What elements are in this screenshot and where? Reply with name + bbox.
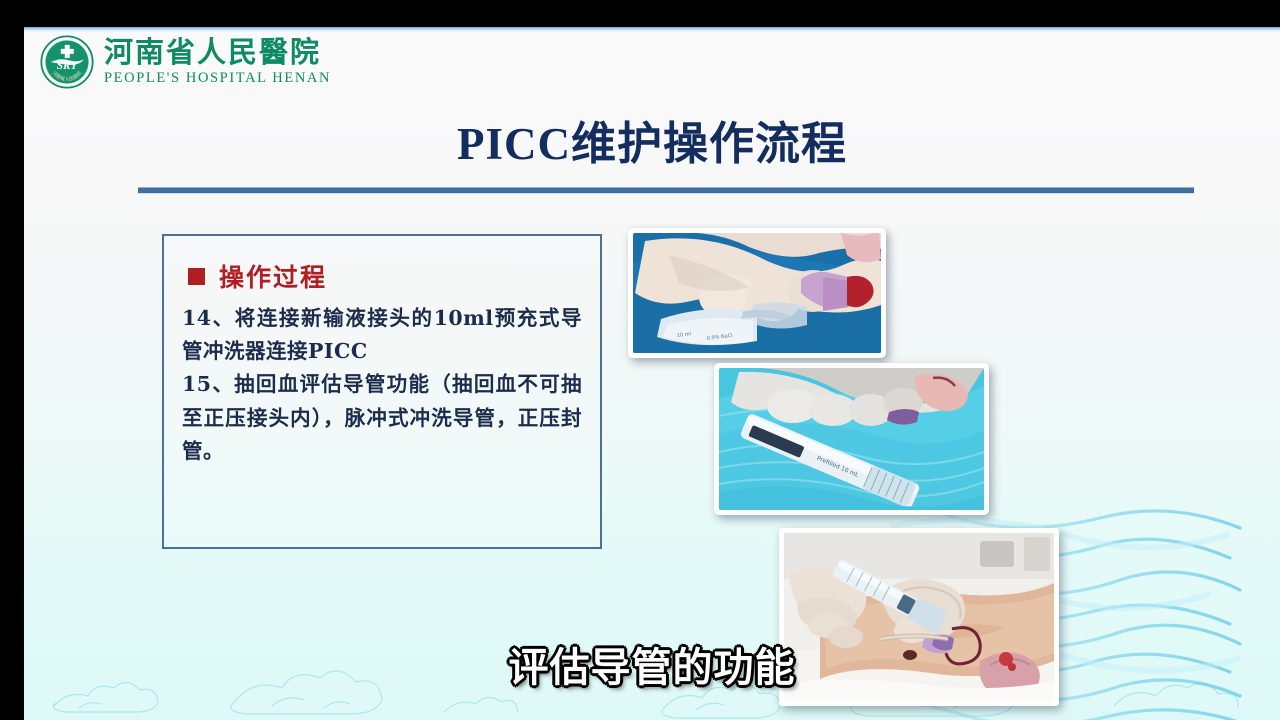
svg-text:SRY: SRY bbox=[57, 60, 79, 72]
video-caption: 评估导管的功能 bbox=[24, 635, 1280, 693]
photo-syringe-connecting-needleless-connector: 10 ml 0.9% NaCl bbox=[628, 228, 886, 358]
procedure-step-15: 15、抽回血评估导管功能（抽回血不可抽至正压接头内），脉冲式冲洗导管，正压封管。 bbox=[182, 368, 582, 468]
hospital-name-en: PEOPLE'S HOSPITAL HENAN bbox=[104, 71, 331, 86]
top-edge-glow bbox=[24, 27, 1280, 32]
photo-2-image: Prefilled 10 mL bbox=[719, 368, 984, 510]
title-divider bbox=[138, 187, 1194, 194]
letterbox-top-bar bbox=[0, 0, 1280, 27]
photo-syringe-on-sterile-drape: Prefilled 10 mL bbox=[714, 363, 989, 515]
page-title: PICC维护操作流程 bbox=[24, 107, 1280, 172]
hospital-name-block: 河南省人民醫院 PEOPLE'S HOSPITAL HENAN bbox=[104, 38, 331, 86]
card-heading-row: 操作过程 bbox=[188, 258, 582, 294]
procedure-step-14: 14、将连接新输液接头的10ml预充式导管冲洗器连接PICC bbox=[182, 302, 582, 368]
hospital-logo: SRY 河南省人民医院 河南省人民醫院 PEOPLE'S HOSPITAL HE… bbox=[40, 35, 331, 89]
procedure-text-card: 操作过程 14、将连接新输液接头的10ml预充式导管冲洗器连接PICC 15、抽… bbox=[162, 234, 602, 549]
hospital-emblem-icon: SRY 河南省人民医院 bbox=[40, 35, 94, 89]
photo-1-image: 10 ml 0.9% NaCl bbox=[633, 233, 881, 353]
slide-root: SRY 河南省人民医院 河南省人民醫院 PEOPLE'S HOSPITAL HE… bbox=[0, 0, 1280, 720]
letterbox-left-bar bbox=[0, 0, 24, 720]
card-heading-label: 操作过程 bbox=[219, 258, 327, 294]
square-bullet-icon bbox=[188, 268, 205, 285]
hospital-name-cn: 河南省人民醫院 bbox=[104, 38, 331, 67]
slide-canvas: SRY 河南省人民医院 河南省人民醫院 PEOPLE'S HOSPITAL HE… bbox=[24, 27, 1280, 720]
